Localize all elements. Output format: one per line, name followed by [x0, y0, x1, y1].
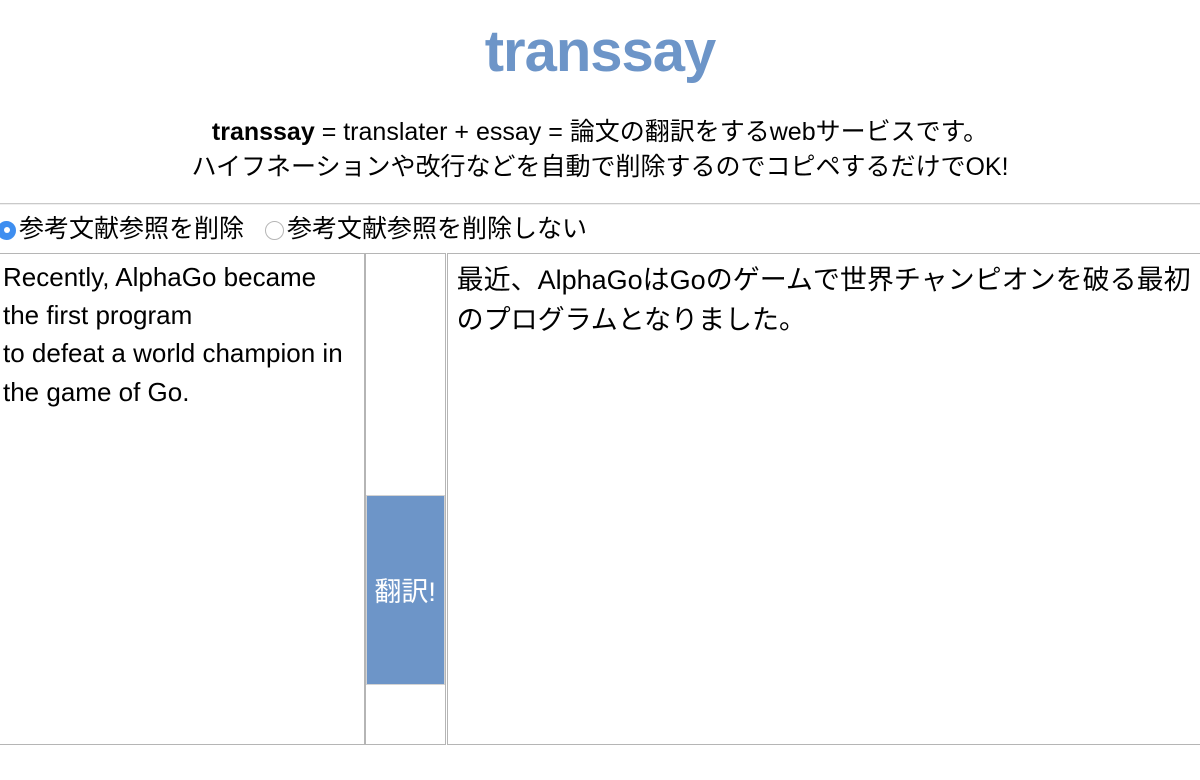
radio-unselected-icon[interactable] [265, 221, 284, 240]
source-text-input[interactable]: Recently, AlphaGo became the first progr… [0, 253, 365, 745]
page-title: transsay [0, 0, 1200, 89]
tagline-brand: transsay [212, 118, 315, 146]
radio-label-keep-references: 参考文献参照を削除しない [287, 217, 587, 244]
radio-option-keep-references[interactable]: 参考文献参照を削除しない [265, 217, 587, 244]
translate-button[interactable]: 翻訳! [366, 495, 445, 685]
translation-panels: Recently, AlphaGo became the first progr… [0, 253, 1200, 745]
translate-column: 翻訳! [365, 253, 446, 745]
reference-removal-options: 参考文献参照を削除 参考文献参照を削除しない [0, 205, 1200, 253]
radio-label-remove-references: 参考文献参照を削除 [19, 217, 244, 244]
tagline-line-2: ハイフネーションや改行などを自動で削除するのでコピペするだけでOK! [0, 150, 1200, 186]
tagline: transsay = translater + essay = 論文の翻訳をする… [0, 89, 1200, 186]
translated-text-output[interactable]: 最近、AlphaGoはGoのゲームで世界チャンピオンを破る最初のプログラムとなり… [447, 253, 1200, 745]
radio-selected-icon[interactable] [0, 221, 16, 240]
radio-option-remove-references[interactable]: 参考文献参照を削除 [0, 217, 244, 244]
tagline-rest: = translater + essay = 論文の翻訳をするwebサービスです… [315, 118, 988, 146]
